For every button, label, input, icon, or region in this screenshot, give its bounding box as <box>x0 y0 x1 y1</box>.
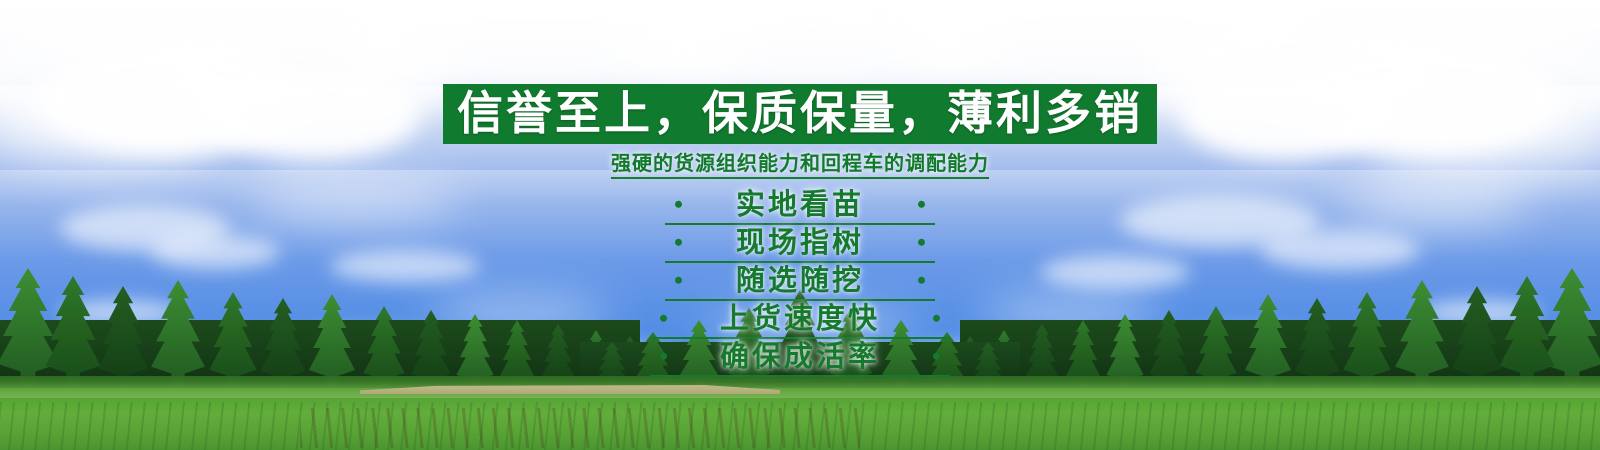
bullet-dot-right-icon <box>918 239 925 246</box>
feature-item-3: 随选随挖 <box>665 263 935 301</box>
feature-list: 实地看苗 现场指树 随选随挖 上货速度快 确保成活率 <box>0 187 1600 377</box>
subtitle-capability: 强硬的货源组织能力和回程车的调配能力 <box>611 151 989 179</box>
crop-rows-front <box>300 408 860 448</box>
bullet-dot-right-icon <box>918 201 925 208</box>
banner-content: 信誉至上，保质保量，薄利多销 强硬的货源组织能力和回程车的调配能力 实地看苗 现… <box>0 0 1600 377</box>
bullet-dot-left-icon <box>675 239 682 246</box>
feature-label: 随选随挖 <box>736 264 864 297</box>
bullet-dot-right-icon <box>933 315 940 322</box>
feature-item-5: 确保成活率 <box>650 339 950 377</box>
bullet-dot-left-icon <box>675 277 682 284</box>
feature-item-1: 实地看苗 <box>665 187 935 225</box>
promo-banner: 信誉至上，保质保量，薄利多销 强硬的货源组织能力和回程车的调配能力 实地看苗 现… <box>0 0 1600 450</box>
bullet-dot-right-icon <box>933 353 940 360</box>
bullet-dot-left-icon <box>660 353 667 360</box>
field-haze <box>0 382 1600 398</box>
bullet-dot-right-icon <box>918 277 925 284</box>
feature-item-4: 上货速度快 <box>650 301 950 339</box>
feature-label: 确保成活率 <box>720 340 880 373</box>
feature-item-2: 现场指树 <box>665 225 935 263</box>
feature-label: 上货速度快 <box>720 302 880 335</box>
headline-slogan: 信誉至上，保质保量，薄利多销 <box>443 84 1157 144</box>
bullet-dot-left-icon <box>675 201 682 208</box>
feature-label: 现场指树 <box>736 226 864 259</box>
feature-label: 实地看苗 <box>736 188 864 221</box>
bullet-dot-left-icon <box>660 315 667 322</box>
